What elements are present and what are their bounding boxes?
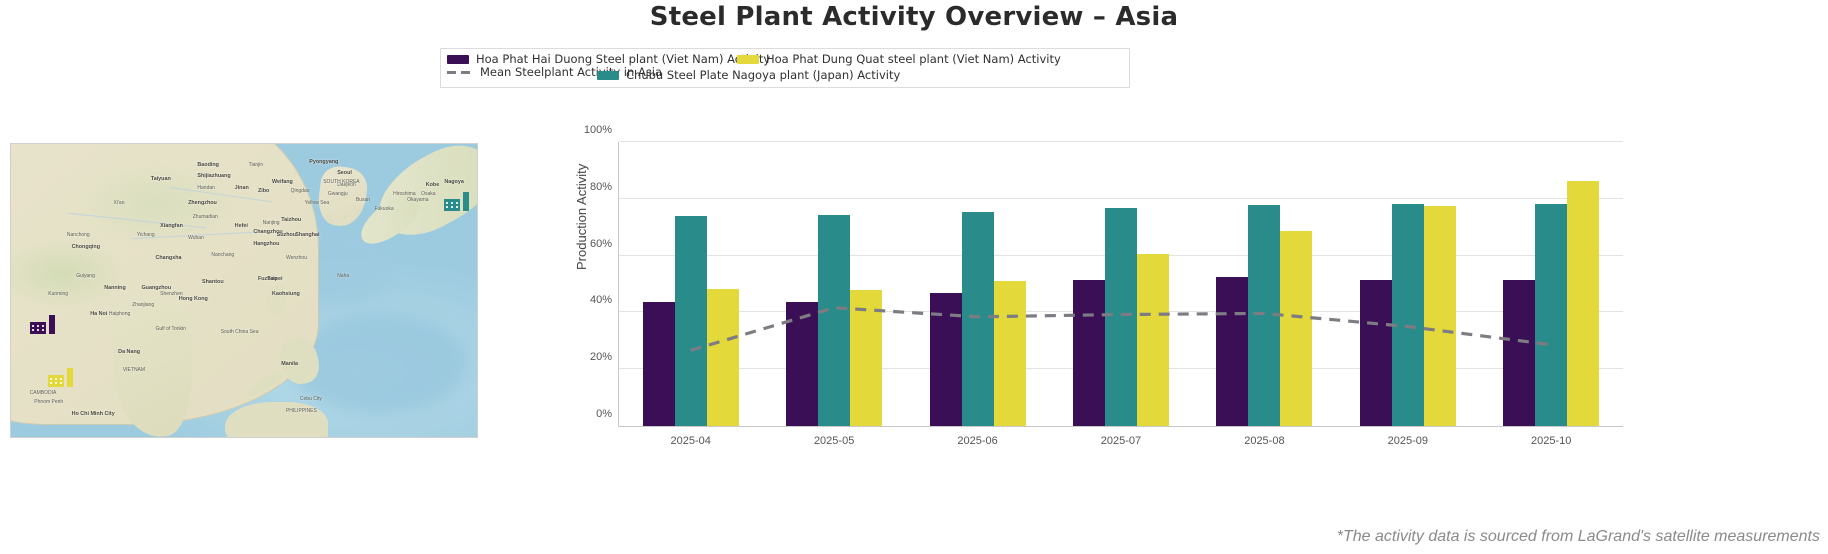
y-axis-tick: 0%: [596, 408, 612, 420]
map-label: Gulf of Tonkin: [155, 326, 185, 332]
map-label: Hefei: [235, 223, 248, 229]
factory-window: [451, 206, 453, 208]
map-label: Haiphong: [109, 311, 130, 317]
map-label: Shanghai: [295, 232, 319, 238]
map-label: Taipei: [267, 276, 282, 282]
factory-window: [50, 382, 52, 384]
map-label: Wuhan: [188, 235, 204, 241]
map-label: Wenzhou: [286, 255, 307, 261]
y-axis-tick: 20%: [590, 351, 612, 363]
factory-building: [48, 375, 64, 387]
factory-icon[interactable]: [444, 191, 470, 211]
map-label: Shantou: [202, 279, 224, 285]
x-axis-tick: 2025-05: [762, 435, 905, 447]
map-label: Busan: [356, 197, 370, 203]
factory-window: [446, 206, 448, 208]
plot-area: 0%20%40%60%80%100% 2025-042025-052025-06…: [618, 142, 1623, 427]
factory-building: [444, 199, 460, 211]
legend-swatch-teal: [597, 71, 619, 80]
factory-building: [30, 322, 46, 334]
factory-window: [32, 325, 34, 327]
mean-line-path: [691, 308, 1552, 351]
factory-window: [55, 382, 57, 384]
map-label: Naha: [337, 273, 349, 279]
legend-label: Chubu Steel Plate Nagoya plant (Japan) A…: [626, 69, 900, 82]
map-label: Kunming: [48, 291, 68, 297]
map-label: Nagoya: [444, 179, 463, 185]
map-label: Pyongyang: [309, 159, 338, 165]
map-label: Jinan: [235, 185, 249, 191]
legend-swatch-purple: [447, 55, 469, 64]
map-label: Weifang: [272, 179, 293, 185]
map-label: Shijiazhuang: [197, 173, 230, 179]
map-label: Chongqing: [72, 244, 100, 250]
map-label: Xiangfan: [160, 223, 183, 229]
map-label: CAMBODIA: [30, 390, 57, 396]
factory-chimney: [49, 315, 55, 334]
map-label: Zhumadian: [193, 214, 218, 220]
factory-chimney: [463, 192, 469, 211]
map-label: South China Sea: [221, 329, 259, 335]
map-label: Zhanjiang: [132, 302, 154, 308]
map-label: Seoul: [337, 170, 352, 176]
map-label: Nanchong: [67, 232, 90, 238]
legend-swatch-dashed-line: [447, 68, 473, 77]
map-label: Kobe: [426, 182, 439, 188]
map-label: Baoding: [197, 162, 219, 168]
map-label: Tianjin: [249, 162, 264, 168]
map-label: Ha Noi: [90, 311, 107, 317]
y-axis-tick: 100%: [584, 124, 612, 136]
map-label: Guiyang: [76, 273, 95, 279]
factory-icon[interactable]: [48, 367, 74, 387]
legend-swatch-yellow: [737, 55, 759, 64]
x-axis-tick: 2025-07: [1049, 435, 1192, 447]
map-label: Suzhou: [277, 232, 296, 238]
x-axis-tick: 2025-09: [1336, 435, 1479, 447]
map-label: Taizhou: [281, 217, 301, 223]
factory-window: [32, 329, 34, 331]
asia-map[interactable]: BaodingTianjinTaiyuanShijiazhuangWeifang…: [10, 143, 478, 438]
map-label: Fukuoka: [374, 206, 393, 212]
map-label: PHILIPPINES: [286, 408, 317, 414]
map-label: Okayama: [407, 197, 428, 203]
y-axis-label: Production Activity: [574, 164, 589, 270]
factory-window: [456, 202, 458, 204]
legend-label: Hoa Phat Dung Quat steel plant (Viet Nam…: [766, 53, 1061, 66]
map-label: Nanning: [104, 285, 126, 291]
legend-item-chubu-nagoya[interactable]: Chubu Steel Plate Nagoya plant (Japan) A…: [597, 69, 887, 82]
factory-window: [55, 378, 57, 380]
map-label: VIETNAM: [123, 367, 145, 373]
factory-window: [456, 206, 458, 208]
y-axis-tick: 40%: [590, 294, 612, 306]
x-axis-tick: 2025-06: [906, 435, 1049, 447]
page-title: Steel Plant Activity Overview – Asia: [0, 2, 1828, 32]
factory-chimney: [67, 368, 73, 387]
factory-window: [50, 378, 52, 380]
map-label: Zhengzhou: [188, 200, 217, 206]
factory-window: [451, 202, 453, 204]
mean-activity-line: [619, 142, 1623, 427]
factory-window: [60, 382, 62, 384]
map-label: Qingdao: [291, 188, 310, 194]
legend-item-mean-activity[interactable]: Mean Steelplant Activity in Asia: [447, 66, 597, 79]
map-label: Taiyuan: [151, 176, 171, 182]
y-axis-tick: 60%: [590, 238, 612, 250]
legend-item-hoa-phat-dung-quat[interactable]: Hoa Phat Dung Quat steel plant (Viet Nam…: [737, 53, 985, 66]
x-axis-tick: 2025-08: [1193, 435, 1336, 447]
map-label: Yellow Sea: [305, 200, 330, 206]
y-axis-tick: 80%: [590, 181, 612, 193]
map-label: Cebu City: [300, 396, 322, 402]
map-label: Ho Chi Minh City: [72, 411, 115, 417]
map-label: Phnom Penh: [34, 399, 63, 405]
activity-bar-chart: Production Activity 0%20%40%60%80%100% 2…: [560, 130, 1828, 490]
factory-window: [42, 329, 44, 331]
map-label: SOUTH KOREA: [323, 179, 359, 185]
map-label: Nanjing: [263, 220, 280, 226]
factory-window: [446, 202, 448, 204]
factory-icon[interactable]: [30, 314, 56, 334]
map-label: Handan: [197, 185, 215, 191]
factory-window: [37, 329, 39, 331]
map-label: Manila: [281, 361, 298, 367]
map-label: Changsha: [155, 255, 181, 261]
map-label: Da Nang: [118, 349, 140, 355]
factory-window: [37, 325, 39, 327]
map-label: Xi'an: [114, 200, 125, 206]
factory-window: [60, 378, 62, 380]
map-label: Yichang: [137, 232, 155, 238]
map-label: Hangzhou: [253, 241, 279, 247]
map-label: Zibo: [258, 188, 269, 194]
x-axis-tick: 2025-04: [619, 435, 762, 447]
map-label: Nanchang: [211, 252, 234, 258]
factory-window: [42, 325, 44, 327]
chart-legend: Hoa Phat Hai Duong Steel plant (Viet Nam…: [440, 48, 1130, 88]
map-label: Kaohsiung: [272, 291, 300, 297]
map-label: Hong Kong: [179, 296, 208, 302]
data-source-footnote: *The activity data is sourced from LaGra…: [1337, 528, 1820, 546]
x-axis-tick: 2025-10: [1480, 435, 1623, 447]
map-label: Gwangju: [328, 191, 348, 197]
